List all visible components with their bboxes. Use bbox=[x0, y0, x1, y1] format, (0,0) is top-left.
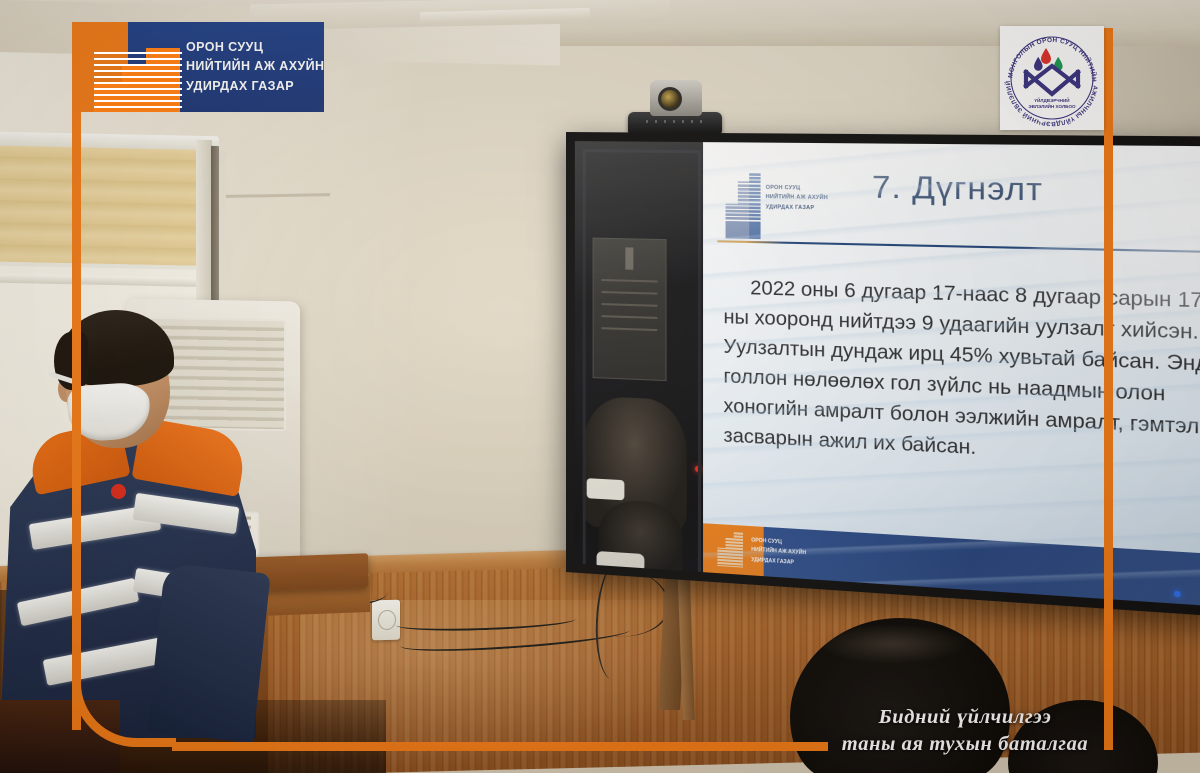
slide-logo: ОРОН СУУЦ НИЙТИЙН АЖ АХУЙН УДИРДАХ ГАЗАР bbox=[726, 171, 838, 226]
wall-outlet[interactable] bbox=[372, 600, 400, 641]
jacket-badge bbox=[111, 484, 126, 499]
display-power-led bbox=[1174, 590, 1181, 597]
tagline-line-1: Бидний үйлчилгээ bbox=[820, 704, 1110, 731]
presentation-slide: ОРОН СУУЦ НИЙТИЙН АЖ АХУЙН УДИРДАХ ГАЗАР… bbox=[703, 142, 1200, 608]
union-emblem-logo: МОНГОЛЫН ОРОН СУУЦ НИЙТИЙН АЖ АХУЙН АЖИЛ… bbox=[1000, 26, 1104, 130]
brand-frame-bottom bbox=[172, 742, 828, 751]
slide-divider bbox=[717, 240, 1200, 253]
photo-canvas: ОРОН СУУЦ НИЙТИЙН АЖ АХУЙН УДИРДАХ ГАЗАР… bbox=[0, 0, 1200, 773]
display-inner-bezel bbox=[583, 149, 701, 582]
svg-text:ЭВЛЭЛИЙН ХОЛБОО: ЭВЛЭЛИЙН ХОЛБОО bbox=[1028, 102, 1076, 109]
slide-footer-text: ОРОН СУУЦ НИЙТИЙН АЖ АХУЙН УДИРДАХ ГАЗАР bbox=[751, 536, 806, 569]
brand-frame-left bbox=[72, 24, 81, 730]
building-logo-icon bbox=[717, 531, 744, 567]
brand-frame-right bbox=[1104, 28, 1113, 750]
tagline: Бидний үйлчилгээ таны ая тухын баталгаа bbox=[820, 704, 1110, 758]
slide-body-text: 2022 оны 6 дугаар 17-наас 8 дугаар сарын… bbox=[723, 273, 1200, 476]
camera-lens-icon bbox=[658, 87, 682, 111]
window-rail bbox=[0, 274, 219, 288]
slide-logo-text: ОРОН СУУЦ НИЙТИЙН АЖ АХУЙН УДИРДАХ ГАЗАР bbox=[766, 183, 828, 214]
union-emblem-icon: МОНГОЛЫН ОРОН СУУЦ НИЙТИЙН АЖ АХУЙН АЖИЛ… bbox=[1000, 26, 1104, 130]
tagline-line-2: таны ая тухын баталгаа bbox=[820, 731, 1110, 758]
organization-name: ОРОН СУУЦ НИЙТИЙН АЖ АХУЙН УДИРДАХ ГАЗАР bbox=[186, 38, 324, 96]
slide-title: 7. Дүгнэлт bbox=[872, 168, 1043, 208]
camera-head bbox=[650, 80, 702, 116]
building-logo-icon bbox=[726, 173, 761, 223]
organization-logo-lockup: ОРОН СУУЦ НИЙТИЙН АЖ АХУЙН УДИРДАХ ГАЗАР bbox=[72, 22, 300, 112]
roller-blind[interactable] bbox=[0, 146, 219, 271]
svg-text:ҮЙЛДВЭРЧНИЙ: ҮЙЛДВЭРЧНИЙ bbox=[1034, 96, 1069, 103]
ptz-conference-camera bbox=[628, 82, 722, 134]
building-logo-icon bbox=[94, 48, 182, 112]
